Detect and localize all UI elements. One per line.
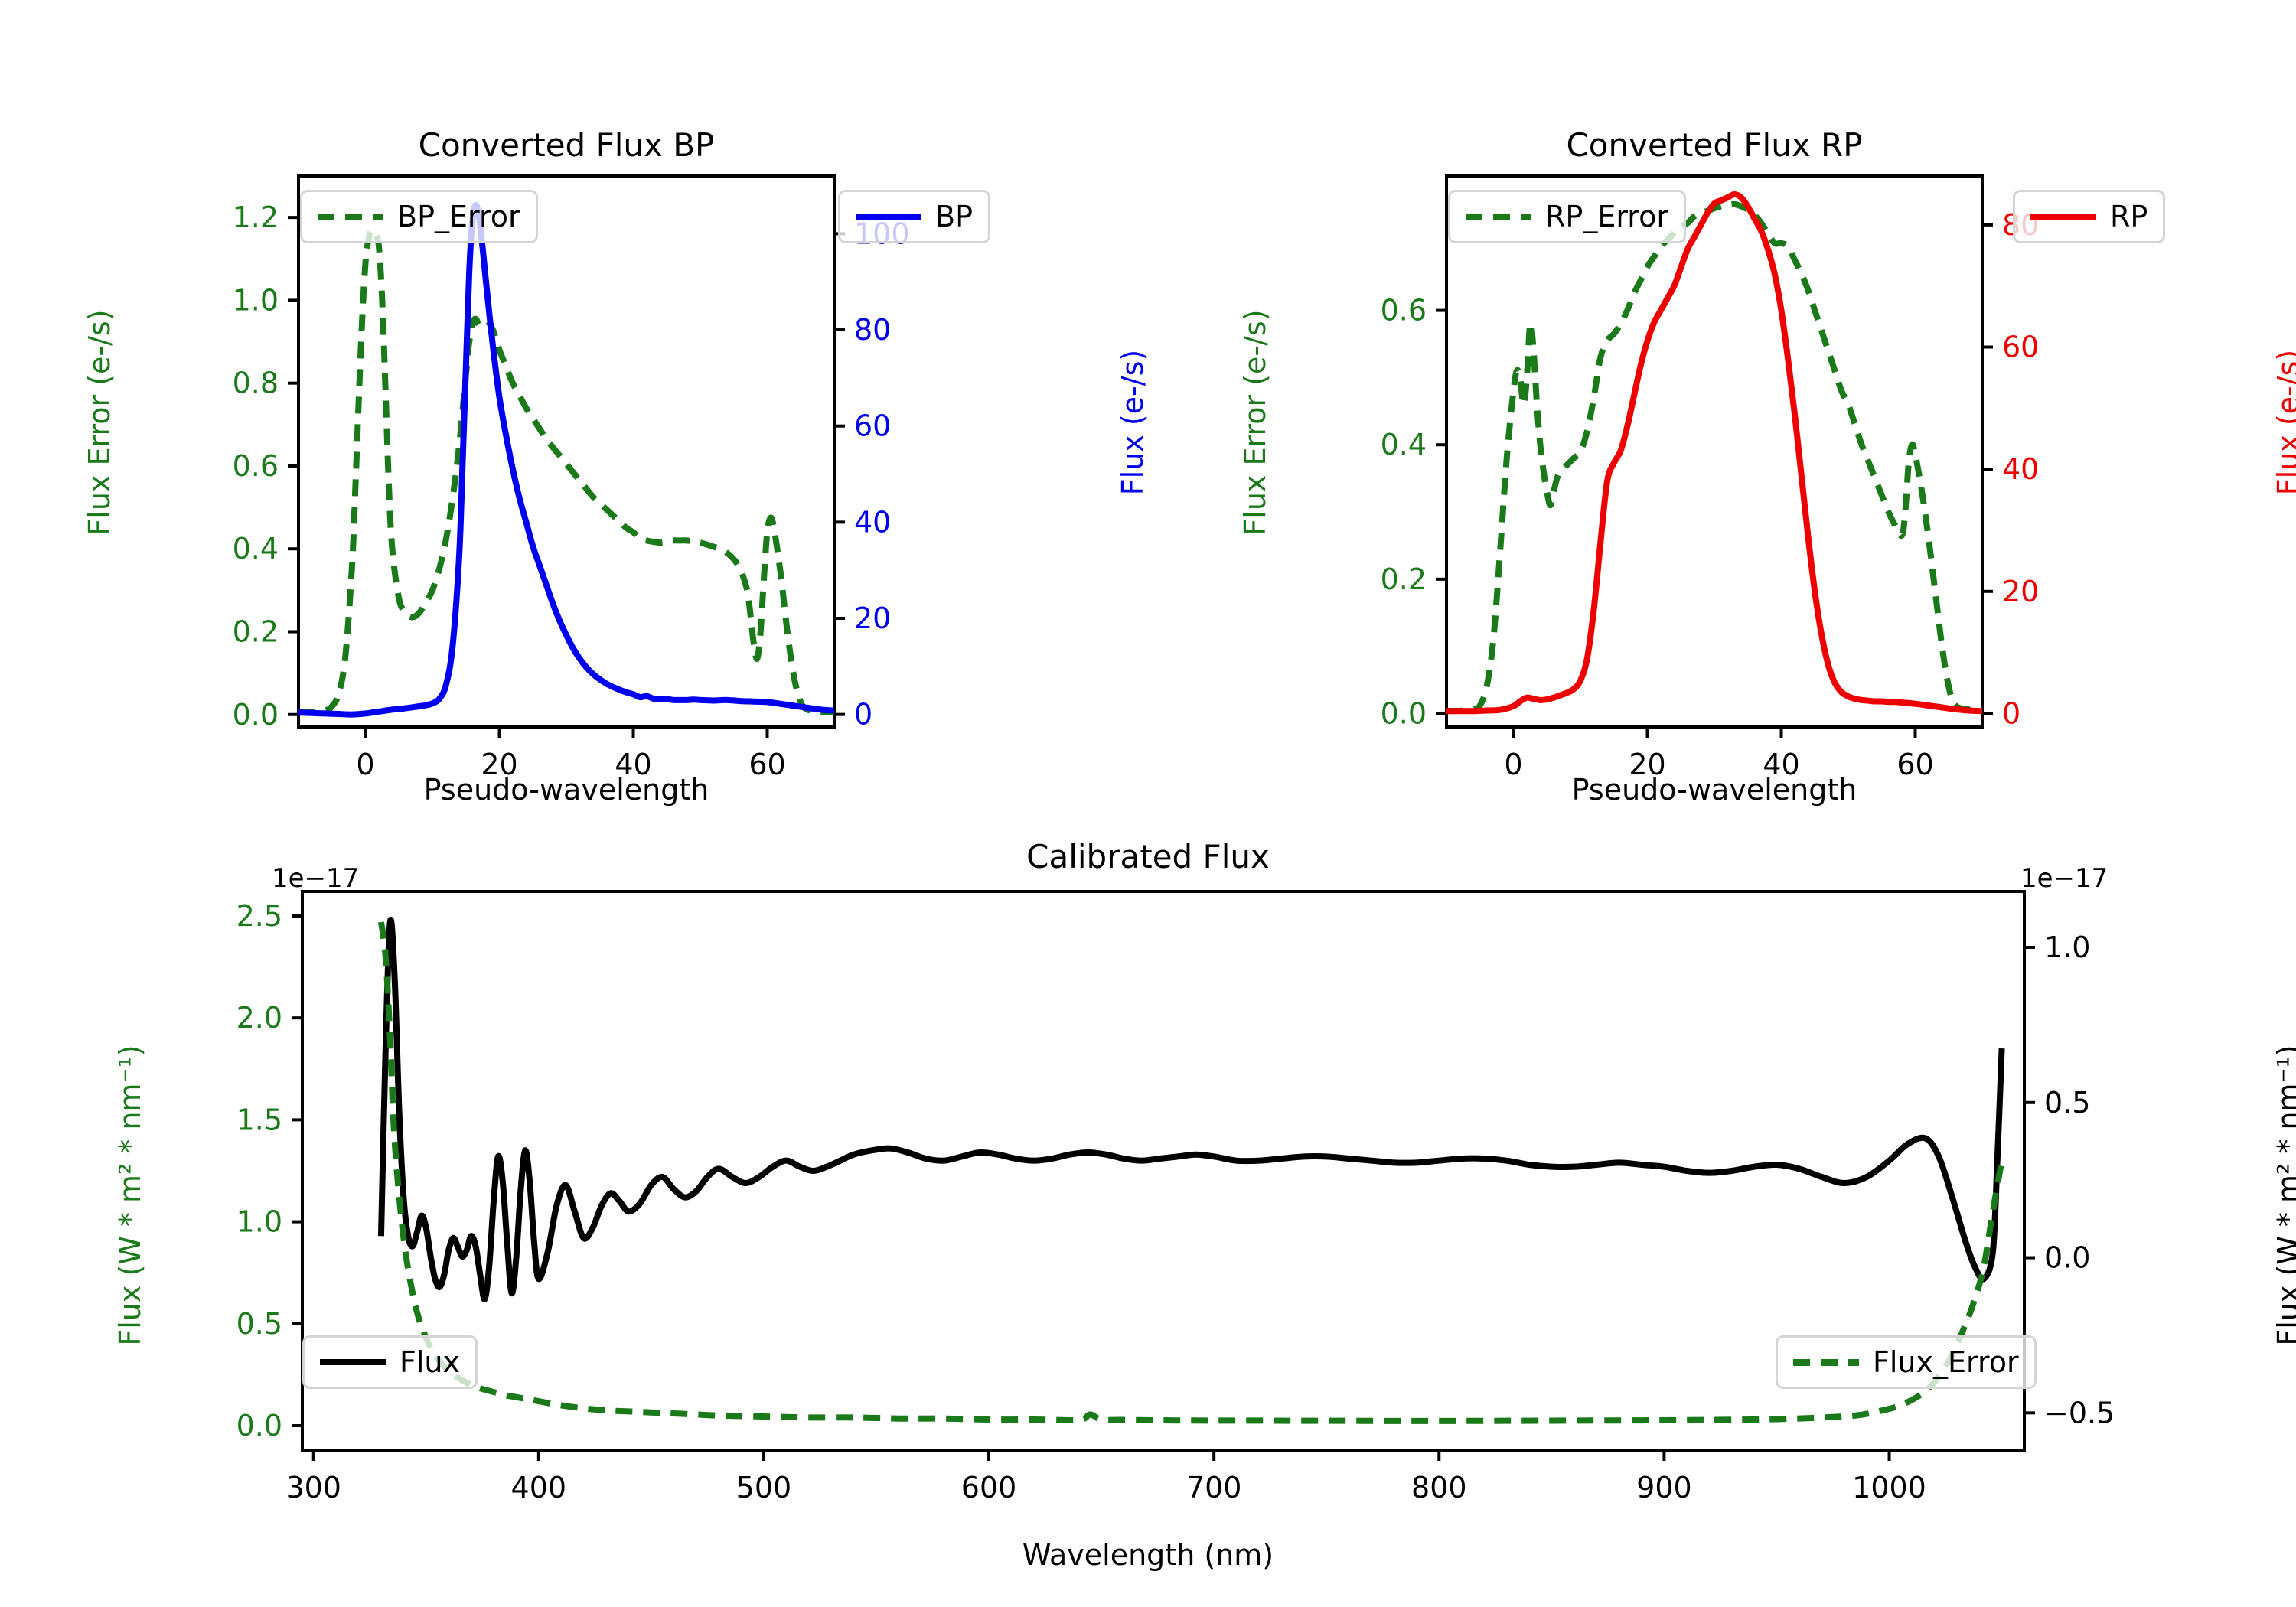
panel-bp-plot: 02040600.00.20.40.60.81.01.2020406080100 — [0, 0, 1148, 834]
panel-cal-ylabel-right: Flux (W * m² * nm⁻¹) — [2272, 927, 2296, 1463]
panel-bp-ylabel-left: Flux Error (e-/s) — [83, 246, 116, 598]
panel-cal-xlabel: Wavelength (nm) — [880, 1538, 1416, 1572]
svg-text:0.2: 0.2 — [233, 614, 279, 648]
rp-legend-label: RP — [2110, 200, 2148, 233]
panel-bp-title: Converted Flux BP — [298, 126, 834, 164]
svg-text:0: 0 — [854, 698, 872, 732]
svg-text:1.0: 1.0 — [236, 1205, 282, 1239]
svg-text:2.0: 2.0 — [236, 1001, 282, 1035]
svg-text:700: 700 — [1186, 1471, 1242, 1504]
panel-cal-title: Calibrated Flux — [880, 838, 1416, 875]
panel-bp-xlabel: Pseudo-wavelength — [298, 773, 834, 807]
svg-text:0.0: 0.0 — [1381, 696, 1427, 730]
flux-error-line-swatch — [1793, 1359, 1859, 1366]
panel-calibrated-flux: Calibrated Flux 1e−17 1e−17 Flux (W * m²… — [0, 834, 2296, 1607]
svg-text:1.2: 1.2 — [233, 200, 279, 234]
svg-text:2.5: 2.5 — [236, 899, 282, 933]
flux-line-swatch — [320, 1359, 386, 1365]
panel-rp-ylabel-left: Flux Error (e-/s) — [1238, 246, 1272, 598]
svg-text:20: 20 — [2002, 575, 2039, 608]
svg-text:800: 800 — [1411, 1471, 1467, 1504]
panel-rp-plot: 02040600.00.20.40.6020406080 — [1148, 0, 2296, 834]
svg-text:20: 20 — [854, 601, 891, 635]
bp-line-swatch — [856, 214, 921, 220]
svg-text:0.8: 0.8 — [233, 367, 279, 400]
svg-text:0.2: 0.2 — [1381, 562, 1427, 596]
panel-cal-exponent-right: 1e−17 — [2020, 863, 2108, 894]
rp-error-line-swatch — [1466, 214, 1531, 220]
svg-text:0.0: 0.0 — [236, 1409, 282, 1442]
svg-text:40: 40 — [2002, 452, 2039, 486]
bp-legend-label: BP — [935, 200, 973, 233]
panel-converted-flux-rp: Converted Flux RP Flux Error (e-/s) Flux… — [1148, 0, 2296, 834]
svg-text:0.6: 0.6 — [1381, 294, 1427, 328]
panel-rp-legend-error[interactable]: RP_Error — [1448, 190, 1686, 243]
panel-rp-xlabel: Pseudo-wavelength — [1446, 773, 1982, 807]
svg-text:300: 300 — [285, 1471, 341, 1504]
panel-rp-ylabel-right: Flux (e-/s) — [2272, 285, 2296, 560]
figure-canvas: Converted Flux BP Flux Error (e-/s) Flux… — [0, 0, 2296, 1607]
svg-text:500: 500 — [736, 1471, 792, 1504]
svg-text:900: 900 — [1636, 1471, 1692, 1504]
svg-text:1000: 1000 — [1852, 1471, 1926, 1504]
svg-text:−0.5: −0.5 — [2044, 1396, 2115, 1429]
svg-text:40: 40 — [854, 505, 891, 539]
panel-bp-ylabel-right: Flux (e-/s) — [1116, 285, 1150, 560]
flux-legend-label: Flux — [400, 1345, 460, 1379]
svg-text:0.5: 0.5 — [236, 1307, 282, 1341]
panel-cal-legend-flux[interactable]: Flux — [302, 1335, 478, 1389]
svg-text:0.5: 0.5 — [2044, 1086, 2090, 1120]
svg-text:80: 80 — [854, 313, 891, 347]
svg-text:400: 400 — [511, 1471, 567, 1504]
svg-text:0.4: 0.4 — [233, 532, 279, 566]
svg-text:1.5: 1.5 — [236, 1103, 282, 1136]
svg-text:1.0: 1.0 — [2044, 931, 2090, 964]
panel-cal-legend-flux-error[interactable]: Flux_Error — [1776, 1335, 2037, 1389]
panel-bp-legend-bp[interactable]: BP — [838, 190, 990, 243]
panel-cal-exponent-left: 1e−17 — [272, 863, 359, 894]
panel-cal-ylabel-left: Flux (W * m² * nm⁻¹) — [113, 927, 147, 1463]
bp-error-legend-label: BP_Error — [397, 200, 520, 233]
svg-text:0.4: 0.4 — [1381, 428, 1427, 461]
panel-rp-legend-rp[interactable]: RP — [2013, 190, 2165, 243]
flux-error-legend-label: Flux_Error — [1873, 1345, 2019, 1379]
svg-text:60: 60 — [2002, 331, 2039, 364]
svg-text:0.0: 0.0 — [233, 698, 279, 732]
rp-error-legend-label: RP_Error — [1545, 200, 1668, 233]
svg-text:60: 60 — [854, 409, 891, 443]
panel-rp-title: Converted Flux RP — [1446, 126, 1982, 164]
svg-text:600: 600 — [961, 1471, 1017, 1504]
rp-line-swatch — [2030, 214, 2096, 220]
svg-text:0.6: 0.6 — [233, 449, 279, 483]
panel-cal-plot: 30040050060070080090010000.00.51.01.52.0… — [0, 834, 2296, 1607]
bp-error-line-swatch — [318, 214, 383, 220]
svg-text:0: 0 — [2002, 696, 2020, 730]
panel-bp-legend-error[interactable]: BP_Error — [300, 190, 538, 243]
svg-text:1.0: 1.0 — [233, 283, 279, 317]
svg-text:0.0: 0.0 — [2044, 1241, 2090, 1275]
panel-converted-flux-bp: Converted Flux BP Flux Error (e-/s) Flux… — [0, 0, 1148, 834]
